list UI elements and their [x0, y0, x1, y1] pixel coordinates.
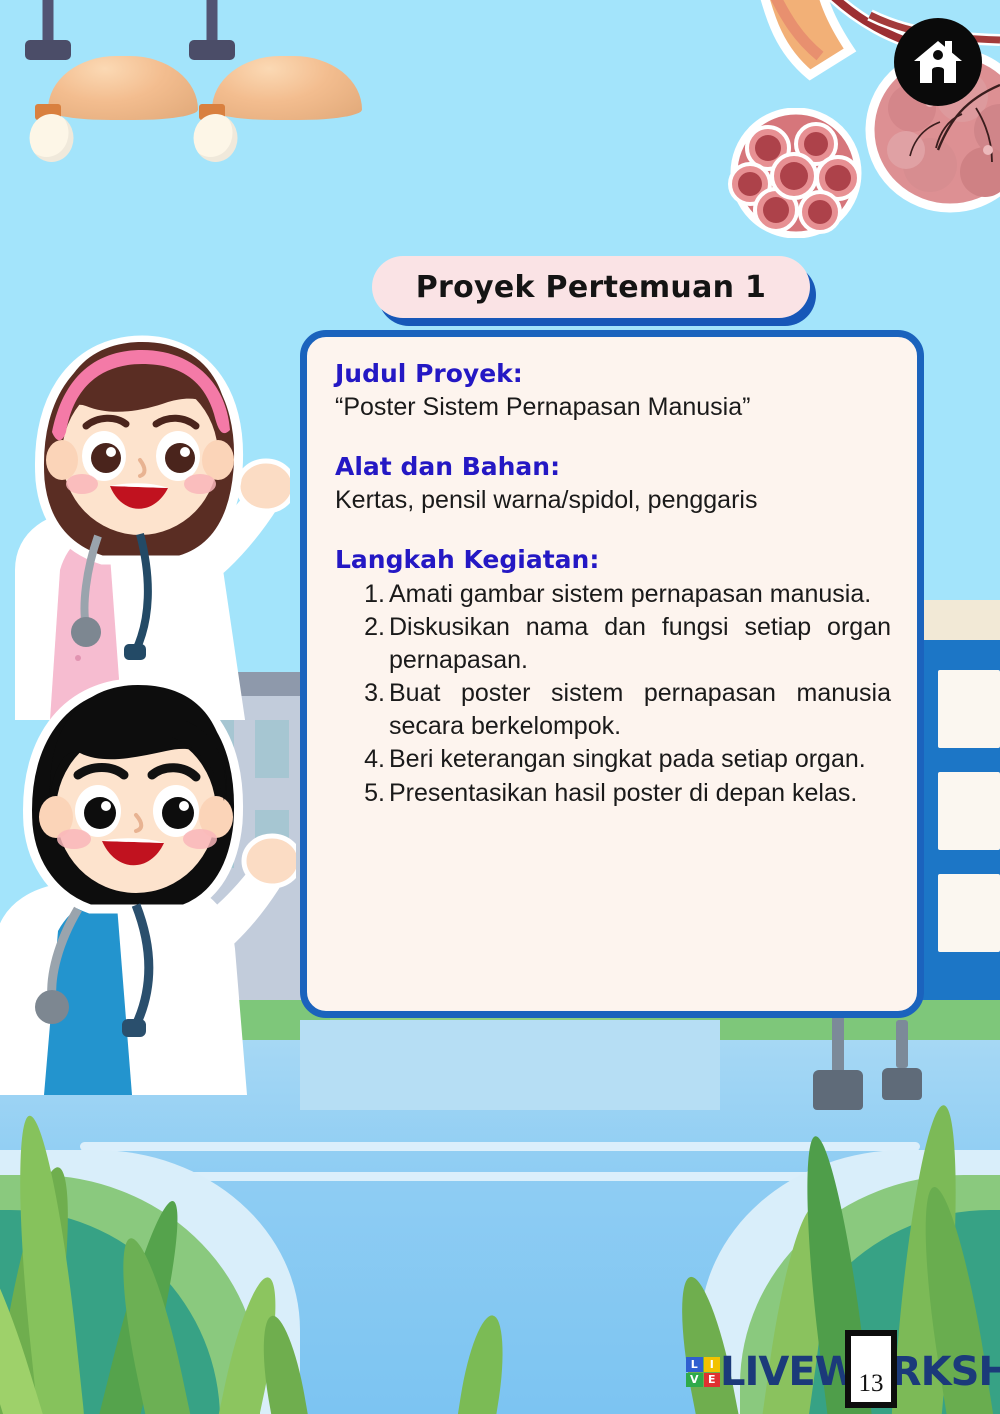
park-lamp-post [880, 1020, 924, 1100]
liveworksheets-watermark: L I V E LIVEWORKSHEETS [686, 1352, 1000, 1392]
section-spacer [335, 515, 891, 545]
liveworksheets-logo-icon: L I V E [686, 1357, 720, 1387]
hospital-window [938, 874, 1000, 952]
path-line [110, 1172, 900, 1181]
project-title-section: Judul Proyek: “Poster Sistem Pernapasan … [335, 359, 891, 422]
steps-list: Amati gambar sistem pernapasan manusia. … [335, 578, 891, 810]
page-number: 13 [859, 1370, 884, 1402]
step-item: Buat poster sistem pernapasan manusia se… [389, 677, 891, 742]
lamp-post-base [813, 1070, 863, 1110]
logo-letter-l: L [686, 1357, 703, 1372]
judul-proyek-value: “Poster Sistem Pernapasan Manusia” [335, 392, 891, 423]
river-path-upper [300, 1020, 720, 1110]
steps-section: Langkah Kegiatan: Amati gambar sistem pe… [335, 545, 891, 809]
hospital-window [938, 670, 1000, 748]
project-card: Judul Proyek: “Poster Sistem Pernapasan … [300, 330, 924, 1018]
materials-section: Alat dan Bahan: Kertas, pensil warna/spi… [335, 452, 891, 515]
lamp-bulb [194, 114, 238, 162]
lamp-post-pole [896, 1020, 908, 1068]
section-spacer [335, 422, 891, 452]
logo-letter-e: E [704, 1373, 721, 1388]
alat-dan-bahan-label: Alat dan Bahan: [335, 452, 891, 483]
step-item: Presentasikan hasil poster di depan kela… [389, 777, 891, 810]
worksheet-page: Proyek Pertemuan 1 Judul Proyek: “Poster… [0, 0, 1000, 1414]
project-title-pill: Proyek Pertemuan 1 [372, 256, 810, 318]
page-number-box: 13 [845, 1330, 897, 1408]
male-doctor-character [0, 665, 296, 1095]
path-line [80, 1142, 920, 1151]
step-item: Diskusikan nama dan fungsi setiap organ … [389, 611, 891, 676]
lamp-post-base [882, 1068, 922, 1100]
logo-letter-v: V [686, 1373, 703, 1388]
lamp-collar [25, 40, 71, 60]
step-item: Beri keterangan singkat pada setiap orga… [389, 743, 891, 776]
alveoli-sticker [716, 108, 876, 238]
project-title-text: Proyek Pertemuan 1 [416, 270, 766, 305]
judul-proyek-label: Judul Proyek: [335, 359, 891, 390]
langkah-kegiatan-label: Langkah Kegiatan: [335, 545, 891, 576]
lamp-bulb [30, 114, 74, 162]
female-doctor-character [0, 320, 290, 720]
hospital-window [938, 772, 1000, 850]
step-item: Amati gambar sistem pernapasan manusia. [389, 578, 891, 611]
logo-letter-i: I [704, 1357, 721, 1372]
lamp-collar [189, 40, 235, 60]
home-icon [912, 37, 964, 87]
home-button[interactable] [894, 18, 982, 106]
alat-dan-bahan-value: Kertas, pensil warna/spidol, penggaris [335, 485, 891, 516]
